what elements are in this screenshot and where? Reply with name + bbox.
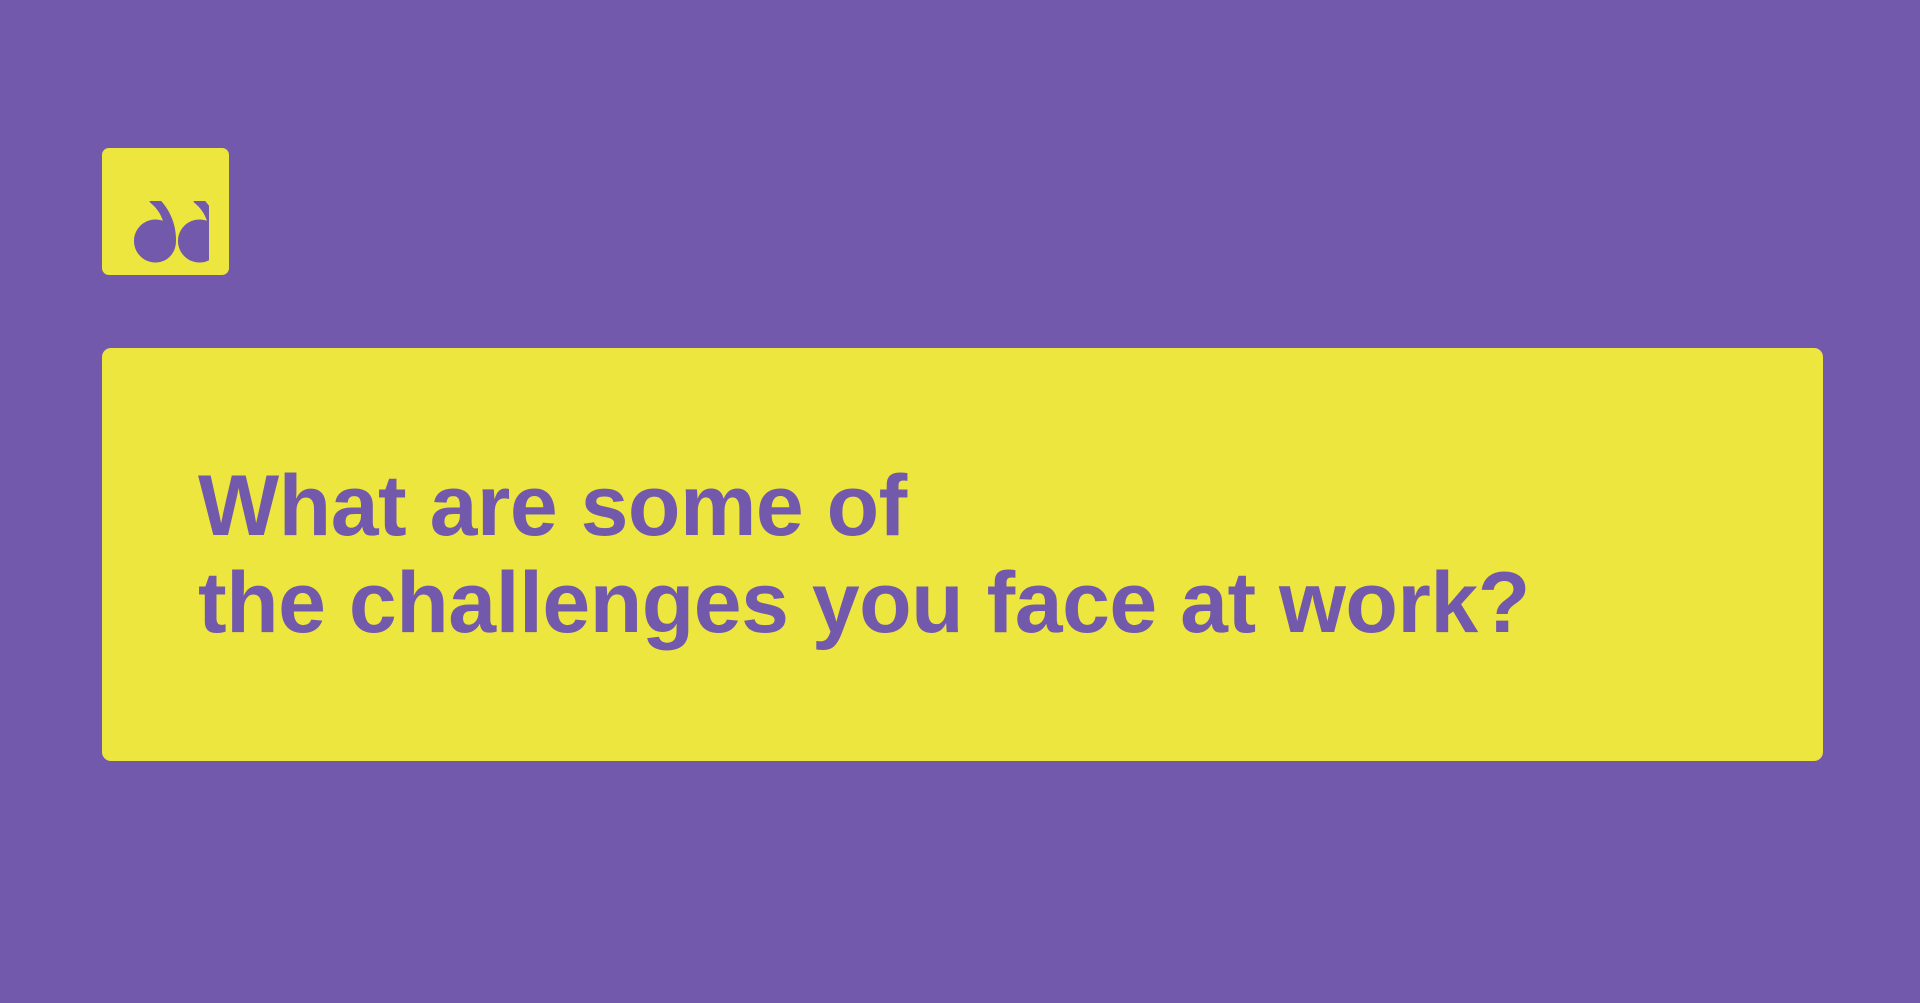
quote-slide: What are some of the challenges you face… <box>0 0 1920 1003</box>
question-line-2: the challenges you face at work? <box>198 555 1783 651</box>
quote-badge <box>102 148 229 275</box>
question-line-1: What are some of <box>198 458 1783 554</box>
double-quote-open-icon <box>123 201 209 263</box>
question-card: What are some of the challenges you face… <box>102 348 1823 761</box>
